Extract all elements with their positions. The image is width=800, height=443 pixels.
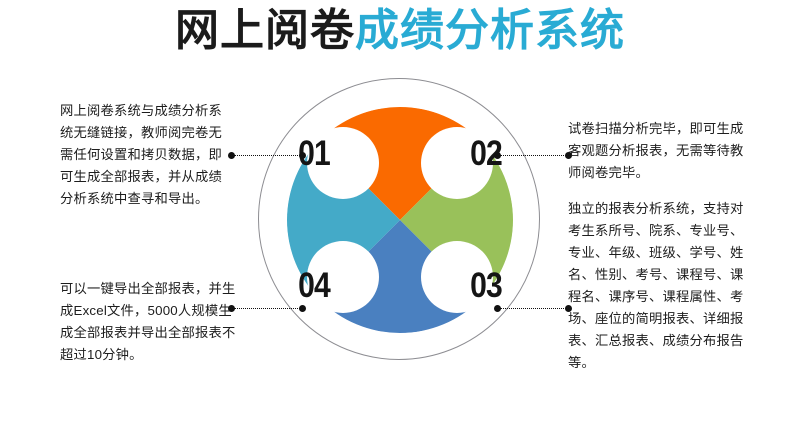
connector-line-04	[228, 303, 306, 313]
page-title: 网上阅卷成绩分析系统	[0, 2, 800, 60]
connector-dot-inner	[299, 152, 306, 159]
callout-text-02: 试卷扫描分析完毕，即可生成客观题分析报表，无需等待教师阅卷完毕。	[568, 118, 748, 184]
wheel-svg	[258, 78, 542, 362]
callout-text-04: 可以一键导出全部报表，并生成Excel文件，5000人规模生成全部报表并导出全部…	[60, 278, 238, 366]
connector-dash	[500, 308, 566, 309]
pie-wheel-diagram: 01 02 03 04	[258, 78, 542, 362]
connector-dot-inner	[299, 305, 306, 312]
connector-line-03	[494, 303, 572, 313]
connector-line-02	[494, 150, 572, 160]
segment-number-03: 03	[462, 266, 510, 306]
callout-text-01: 网上阅卷系统与成绩分析系统无缝链接，教师阅完卷无需任何设置和拷贝数据，即可生成全…	[60, 100, 235, 210]
connector-dash	[500, 155, 566, 156]
connector-line-01	[228, 150, 306, 160]
callout-text-03: 独立的报表分析系统，支持对考生系所号、院系、专业号、专业、年级、班级、学号、姓名…	[568, 198, 748, 374]
page-title-primary: 网上阅卷	[175, 6, 355, 55]
segment-number-04: 04	[290, 266, 338, 306]
connector-dash	[234, 308, 300, 309]
connector-dash	[234, 155, 300, 156]
page-title-accent: 成绩分析系统	[355, 6, 625, 55]
